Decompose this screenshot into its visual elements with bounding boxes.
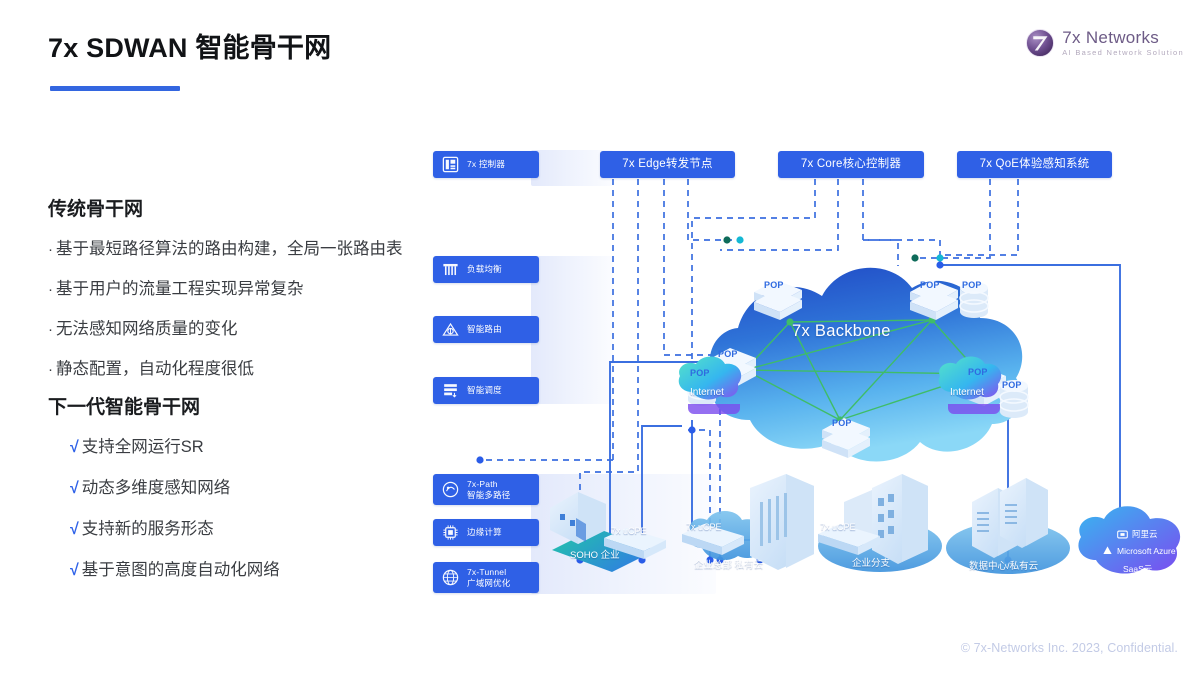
check-marker-icon: √	[70, 439, 79, 457]
bullet-text: 无法感知网络质量的变化	[56, 315, 238, 339]
section-title-traditional: 传统骨干网	[48, 194, 403, 221]
list-item: ·无法感知网络质量的变化	[48, 315, 403, 339]
logo-tagline: AI Based Network Solution	[1062, 49, 1184, 57]
pop-label: POP	[968, 367, 988, 377]
aliyun-icon	[1117, 529, 1128, 540]
pop-label: POP	[920, 280, 940, 290]
list-item: ·静态配置，自动化程度很低	[48, 355, 403, 379]
button-label: 智能调度	[467, 385, 502, 396]
saas-aliyun-row: 阿里云	[1117, 528, 1158, 540]
backbone-label: 7x Backbone	[792, 322, 891, 341]
bullet-list-traditional: ·基于最短路径算法的路由构建，全局一张路由表 ·基于用户的流量工程实现异常复杂 …	[48, 235, 403, 379]
bullet-text: 动态多维度感知网络	[82, 474, 231, 498]
page-title: 7x SDWAN 智能骨干网	[48, 26, 331, 65]
architecture-diagram: 7x Backbone POP POP POP POP POP POP POP …	[420, 130, 1190, 630]
bullet-marker: ·	[48, 241, 53, 258]
list-item: √支持新的服务形态	[48, 515, 280, 539]
load-balance-icon	[441, 260, 460, 279]
site-label-dc: 数据中心/私有云	[969, 558, 1038, 572]
bullet-text: 静态配置，自动化程度很低	[56, 355, 254, 379]
bullet-text: 基于用户的流量工程实现异常复杂	[56, 275, 304, 299]
button-scheduler[interactable]: 智能调度	[433, 377, 539, 404]
path-icon	[441, 480, 460, 499]
site-label-soho: SOHO 企业	[570, 547, 620, 561]
pop-label: POP	[764, 280, 784, 290]
bullet-text: 基于最短路径算法的路由构建，全局一张路由表	[56, 235, 403, 259]
button-label: 7x-Path 智能多路径	[467, 479, 511, 500]
bullet-marker: ·	[48, 321, 53, 338]
saas-line3: SaaS云	[1123, 563, 1152, 575]
site-label-branch: 企业分支	[852, 555, 890, 569]
internet-cloud-left	[679, 357, 741, 415]
controller-icon	[441, 155, 460, 174]
button-label-line2: 智能多路径	[467, 490, 511, 500]
pop-label: POP	[1002, 380, 1022, 390]
check-marker-icon: √	[70, 562, 79, 580]
internet-cloud-right	[939, 357, 1001, 415]
title-underline	[50, 86, 180, 91]
list-item: √动态多维度感知网络	[48, 474, 280, 498]
saas-azure-row: Microsoft Azure	[1102, 545, 1176, 556]
bullet-marker: ·	[48, 281, 53, 298]
ucpe-label: 7x uCPE	[611, 526, 647, 536]
section-title-nextgen: 下一代智能骨干网	[48, 392, 280, 419]
button-7x-controller[interactable]: 7x 控制器	[433, 151, 539, 178]
button-label: 7x Edge转发节点	[622, 157, 712, 171]
footer-copyright: © 7x-Networks Inc. 2023, Confidential.	[961, 641, 1178, 655]
button-7x-tunnel[interactable]: 7x-Tunnel 广域网优化	[433, 562, 539, 593]
button-label: 7x 控制器	[467, 159, 505, 170]
check-marker-icon: √	[70, 521, 79, 539]
button-qoe-system[interactable]: 7x QoE体验感知系统	[957, 151, 1112, 178]
button-label: 7x-Tunnel 广域网优化	[467, 567, 511, 588]
button-label: 边缘计算	[467, 527, 502, 538]
button-label-line2: 广域网优化	[467, 578, 511, 588]
check-marker-icon: √	[70, 480, 79, 498]
button-label: 负载均衡	[467, 264, 502, 275]
button-edge-compute[interactable]: 边缘计算	[433, 519, 539, 546]
list-item: √支持全网运行SR	[48, 433, 280, 457]
list-item: ·基于最短路径算法的路由构建，全局一张路由表	[48, 235, 403, 259]
bullet-text: 支持全网运行SR	[82, 433, 204, 457]
internet-label: Internet	[950, 387, 984, 398]
slide-root: 7x SDWAN 智能骨干网 7x Networks AI Based Netw…	[0, 0, 1200, 675]
ucpe-label: 7x uCPE	[686, 522, 722, 532]
pop-label: POP	[718, 349, 738, 359]
logo-swirl-icon	[1025, 28, 1055, 58]
saas-saas-row: SaaS云	[1123, 563, 1152, 575]
bullet-marker: ·	[48, 361, 53, 378]
pop-label: POP	[962, 280, 982, 290]
ucpe-label: 7x uCPE	[820, 522, 856, 532]
button-core-controller[interactable]: 7x Core核心控制器	[778, 151, 924, 178]
logo-name: 7x Networks	[1062, 29, 1184, 46]
section-nextgen: 下一代智能骨干网 √支持全网运行SR √动态多维度感知网络 √支持新的服务形态 …	[48, 392, 280, 597]
bullet-text: 支持新的服务形态	[82, 515, 214, 539]
button-load-balance[interactable]: 负载均衡	[433, 256, 539, 283]
saas-line2: Microsoft Azure	[1117, 546, 1176, 556]
brand-logo: 7x Networks AI Based Network Solution	[1025, 28, 1184, 58]
scheduler-icon	[441, 381, 460, 400]
button-7x-path[interactable]: 7x-Path 智能多路径	[433, 474, 539, 505]
smart-route-icon	[441, 320, 460, 339]
bullet-text: 基于意图的高度自动化网络	[82, 556, 280, 580]
site-label-hq: 企业总部 私有云	[694, 557, 763, 571]
globe-icon	[441, 568, 460, 587]
saas-line1: 阿里云	[1132, 528, 1158, 540]
pop-label: POP	[690, 368, 710, 378]
list-item: √基于意图的高度自动化网络	[48, 556, 280, 580]
pop-label: POP	[832, 418, 852, 428]
button-label-line1: 7x-Tunnel	[467, 567, 506, 577]
internet-label: Internet	[690, 387, 724, 398]
azure-icon	[1102, 545, 1113, 556]
bullet-list-nextgen: √支持全网运行SR √动态多维度感知网络 √支持新的服务形态 √基于意图的高度自…	[48, 433, 280, 580]
button-label: 7x Core核心控制器	[801, 157, 901, 171]
button-edge-node[interactable]: 7x Edge转发节点	[600, 151, 735, 178]
button-label: 智能路由	[467, 324, 502, 335]
section-traditional: 传统骨干网 ·基于最短路径算法的路由构建，全局一张路由表 ·基于用户的流量工程实…	[48, 194, 403, 395]
button-label-line1: 7x-Path	[467, 479, 498, 489]
button-label: 7x QoE体验感知系统	[980, 157, 1090, 171]
button-smart-route[interactable]: 智能路由	[433, 316, 539, 343]
edge-compute-icon	[441, 523, 460, 542]
list-item: ·基于用户的流量工程实现异常复杂	[48, 275, 403, 299]
